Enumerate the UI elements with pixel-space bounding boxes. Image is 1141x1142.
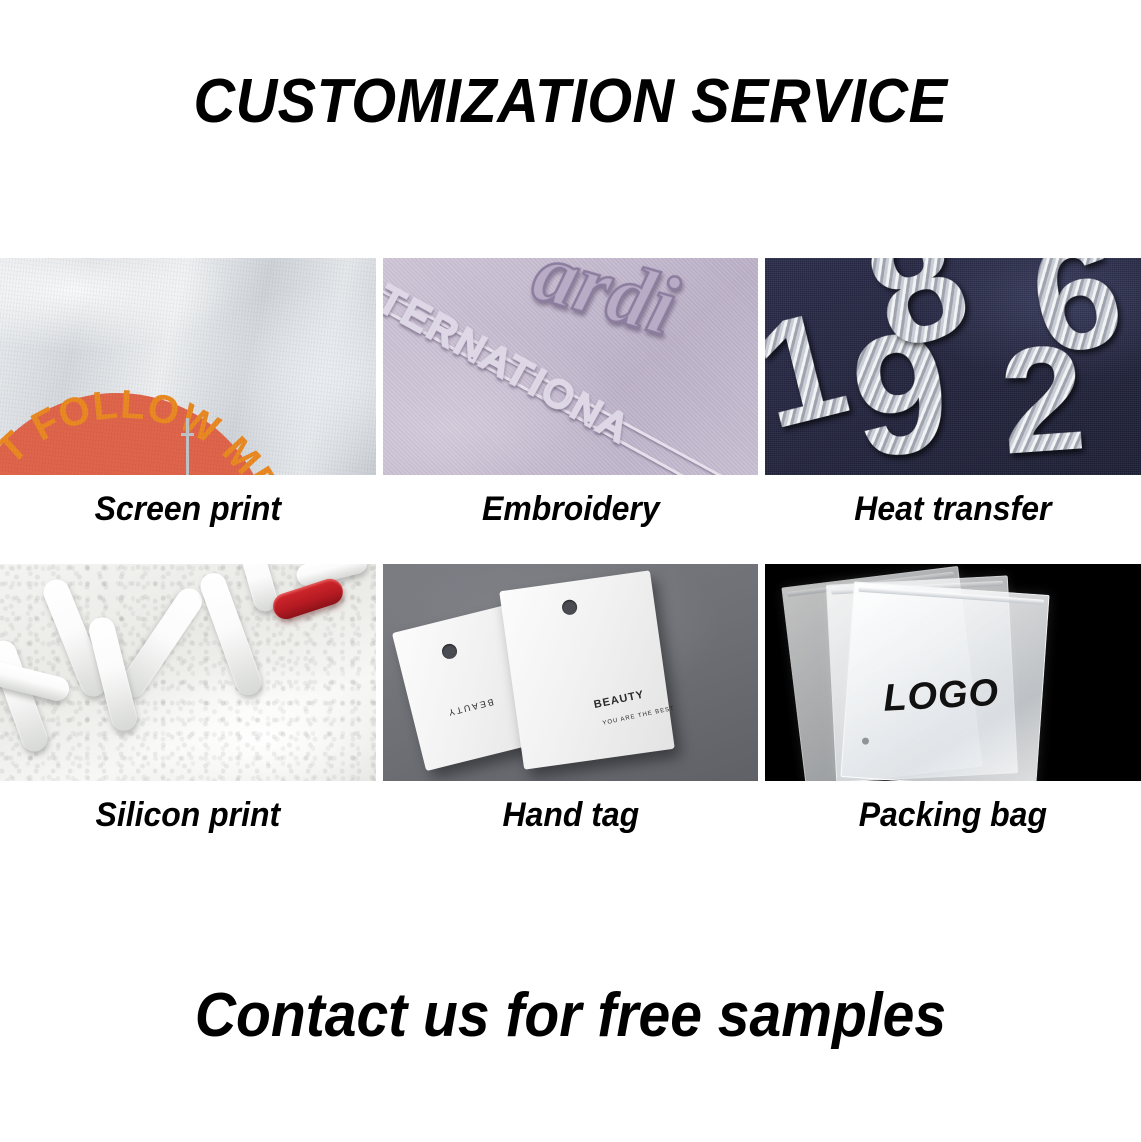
hang-tag-hole <box>440 642 458 660</box>
packing-bag-front: LOGO <box>841 581 1050 781</box>
svg-text:ardi: ardi <box>523 258 687 354</box>
hang-tag-slogan-text: YOU ARE THE BEST <box>602 706 675 727</box>
caption-packing-bag: Packing bag <box>777 781 1130 849</box>
heat-transfer-image: 1 9 8 2 6 <box>765 258 1141 475</box>
hang-tag-brand-text: BEAUTY <box>592 689 645 711</box>
hang-tag-hole <box>561 599 578 616</box>
footer-call-to-action: Contact us for free samples <box>46 980 1096 1051</box>
grid-item-screen-print[interactable]: N'T FOLLOW ME Screen print <box>0 258 376 543</box>
zip-seal <box>859 587 1045 605</box>
caption-hand-tag: Hand tag <box>394 781 747 849</box>
grid-item-heat-transfer[interactable]: 1 9 8 2 6 Heat transfer <box>765 258 1141 543</box>
screen-print-image: N'T FOLLOW ME <box>0 258 376 475</box>
packing-bag-logo-text: LOGO <box>883 672 1001 721</box>
silicon-print-image <box>0 564 376 781</box>
caption-silicon-print: Silicon print <box>11 781 364 849</box>
embroidery-image: TERNATIONA ardi <box>383 258 759 475</box>
grid-row: N'T FOLLOW ME Screen print TERNATIONA ar… <box>0 258 1141 543</box>
packing-bag-image: LOGO <box>765 564 1141 781</box>
caption-heat-transfer: Heat transfer <box>777 475 1130 543</box>
grid-item-packing-bag[interactable]: LOGO Packing bag <box>765 564 1141 849</box>
caption-embroidery: Embroidery <box>394 475 747 543</box>
hang-tag-front: BEAUTY YOU ARE THE BEST <box>499 570 675 769</box>
caption-screen-print: Screen print <box>11 475 364 543</box>
grid-item-silicon-print[interactable]: Silicon print <box>0 564 376 849</box>
screen-print-tower-detail <box>186 418 189 475</box>
hand-tag-image: BEAUTY BEAUTY YOU ARE THE BEST <box>383 564 759 781</box>
grid-item-embroidery[interactable]: TERNATIONA ardi Embroidery <box>383 258 759 543</box>
grid-item-hand-tag[interactable]: BEAUTY BEAUTY YOU ARE THE BEST Hand tag <box>383 564 759 849</box>
embroidery-stitch-art: TERNATIONA ardi <box>383 258 759 475</box>
screen-print-arc-text: N'T FOLLOW ME <box>0 288 288 475</box>
svg-text:N'T FOLLOW ME: N'T FOLLOW ME <box>0 382 288 475</box>
hang-tag-back-text: BEAUTY <box>445 697 494 718</box>
screen-print-circle-graphic <box>0 393 272 475</box>
grid-row: Silicon print BEAUTY BEAUTY YOU ARE THE … <box>0 564 1141 849</box>
bag-vent-hole <box>862 737 869 744</box>
page-title: CUSTOMIZATION SERVICE <box>40 66 1101 137</box>
customization-grid: N'T FOLLOW ME Screen print TERNATIONA ar… <box>0 258 1141 849</box>
